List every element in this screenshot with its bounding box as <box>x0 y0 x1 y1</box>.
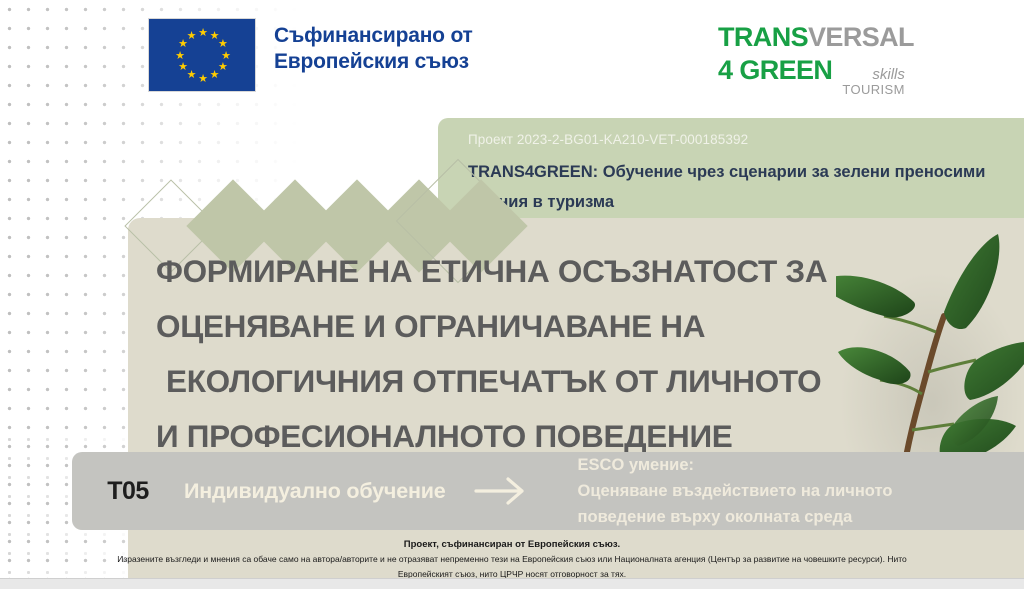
module-code-badge: T05 <box>72 477 184 506</box>
bottom-edge-strip <box>0 578 1024 589</box>
headline-line-1: ФОРМИРАНЕ НА ЕТИЧНА ОСЪЗНАТОСТ ЗА <box>156 244 916 299</box>
eu-star-icon: ★ <box>209 70 220 81</box>
training-mode-label: Индивидуално обучение <box>184 479 446 504</box>
presentation-slide: ★★★★★★★★★★★★ Съфинансирано от Европейски… <box>0 0 1024 589</box>
arrow-right-icon <box>472 474 530 508</box>
transversal4green-logo: TRANS VERSAL 4 GREEN skills TOURISM <box>718 22 914 96</box>
logo-subtext-skills: skills <box>872 67 905 83</box>
headline-line-2: ОЦЕНЯВАНЕ И ОГРАНИЧАВАНЕ НА <box>156 299 916 354</box>
eu-star-icon: ★ <box>178 62 189 73</box>
logo-word-trans: TRANS <box>718 22 808 53</box>
esco-skill-block: ESCO умение: Оценяване въздействието на … <box>578 452 893 530</box>
eu-cofunding-line1: Съфинансирано от <box>274 23 473 49</box>
eu-star-icon: ★ <box>217 39 228 50</box>
eu-cofunding-text: Съфинансирано от Европейския съюз <box>274 18 473 75</box>
logo-subtext-tourism: TOURISM <box>842 83 905 97</box>
eu-star-icon: ★ <box>198 74 209 85</box>
bottom-info-bar: T05 Индивидуално обучение ESCO умение: О… <box>72 452 1024 530</box>
esco-skill-value-line1: Оценяване въздействието на личното <box>578 478 893 504</box>
eu-flag-icon: ★★★★★★★★★★★★ <box>148 18 256 92</box>
esco-skill-label: ESCO умение: <box>578 452 893 478</box>
logo-word-4green: 4 GREEN <box>718 55 832 86</box>
footer-line-2: Изразените възгледи и мнения са обаче са… <box>0 552 1024 567</box>
headline-line-3: ЕКОЛОГИЧНИЯ ОТПЕЧАТЪК ОТ ЛИЧНОТО <box>156 354 916 409</box>
slide-headline: ФОРМИРАНЕ НА ЕТИЧНА ОСЪЗНАТОСТ ЗА ОЦЕНЯВ… <box>156 244 916 464</box>
eu-star-icon: ★ <box>198 28 209 39</box>
project-code: Проект 2023-2-BG01-KA210-VET-000185392 <box>468 132 1000 147</box>
eu-cofunding-line2: Европейския съюз <box>274 49 473 75</box>
eu-star-icon: ★ <box>186 31 197 42</box>
footer-line-1: Проект, съфинансиран от Европейския съюз… <box>0 538 1024 552</box>
esco-skill-value-line2: поведение върху околната среда <box>578 504 893 530</box>
eu-star-icon: ★ <box>175 51 186 62</box>
logo-word-versal: VERSAL <box>808 22 914 53</box>
footer-disclaimer: Проект, съфинансиран от Европейския съюз… <box>0 538 1024 580</box>
eu-cofunding-logo: ★★★★★★★★★★★★ Съфинансирано от Европейски… <box>148 18 473 92</box>
eu-star-icon: ★ <box>221 51 232 62</box>
